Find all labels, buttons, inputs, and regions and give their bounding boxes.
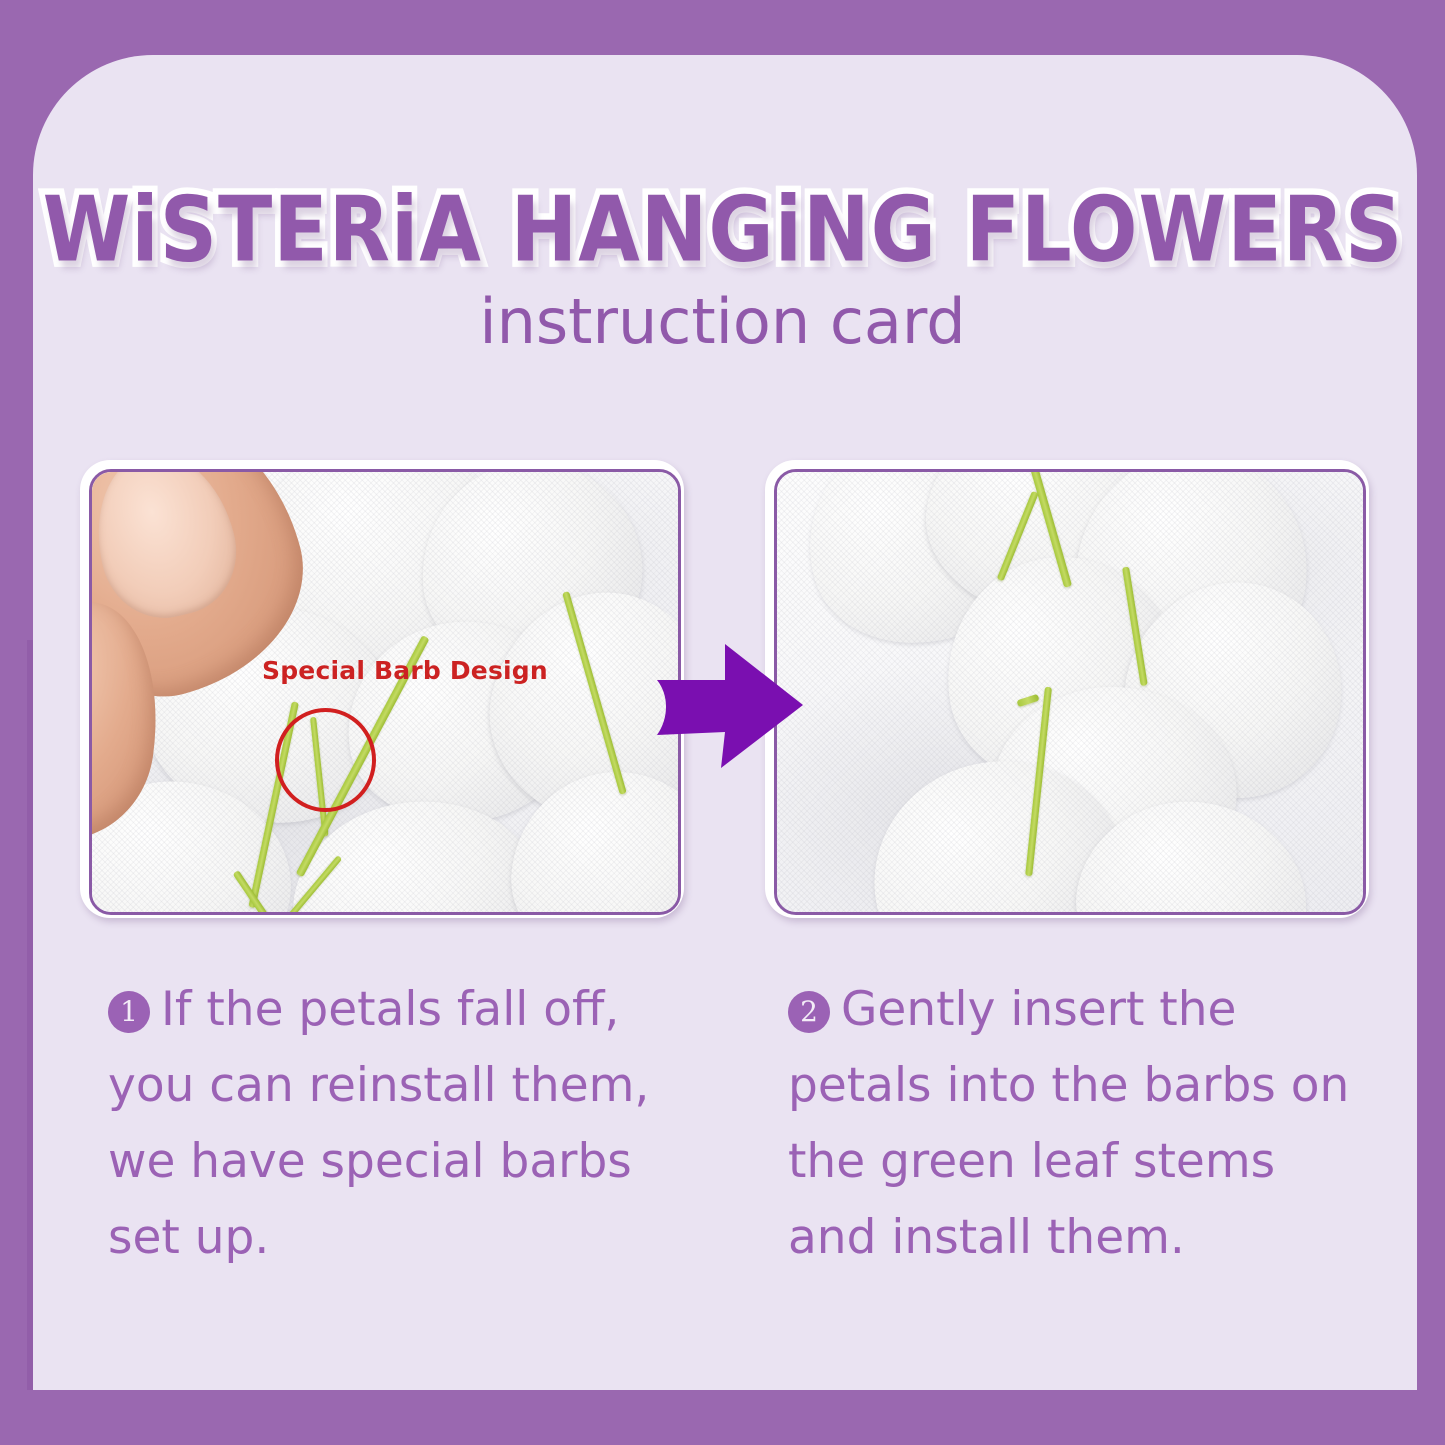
barb-annotation-label: Special Barb Design [262,656,548,685]
panel-left-edge-line [27,640,33,1390]
step-2-text: 2Gently insert the petals into the barbs… [788,972,1368,1277]
fabric-weave-texture [777,472,1363,912]
page-subtitle: instruction card [0,285,1445,358]
photo-card-step-1: Special Barb Design [80,460,684,918]
instruction-card-poster: WiSTERiA HANGiNG FLOWERS instruction car… [0,0,1445,1445]
photo-card-step-2 [765,460,1369,918]
step-1-text: 1If the petals fall off, you can reinsta… [108,972,668,1277]
step-2-badge: 2 [788,991,830,1033]
step-1-badge: 1 [108,991,150,1033]
photo-barb-closeup: Special Barb Design [92,472,678,912]
barb-annotation-circle [275,708,376,812]
photo-frame-right [774,469,1366,915]
step-2-body: Gently insert the petals into the barbs … [788,982,1349,1265]
step-1-body: If the petals fall off, you can reinstal… [108,982,649,1265]
right-arrow-icon [655,640,805,770]
photo-frame-left: Special Barb Design [89,469,681,915]
photo-installed-petals [777,472,1363,912]
